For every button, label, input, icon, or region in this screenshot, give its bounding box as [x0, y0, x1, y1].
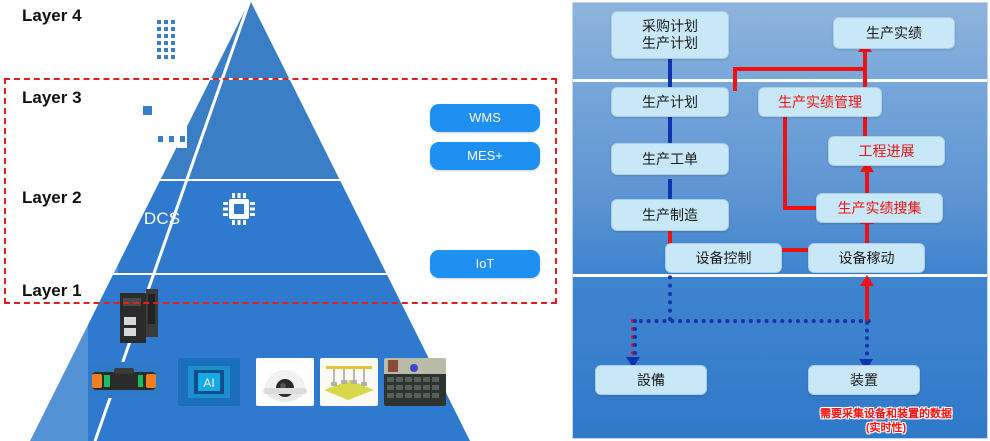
node-line-1: 采购计划 [642, 18, 698, 35]
node-production-result-collection[interactable]: 生产实绩搜集 [816, 193, 943, 223]
connector-to-device-dotted [865, 321, 869, 363]
layer4-subtitle: ERP / SCM [22, 26, 110, 47]
node-production-result[interactable]: 生产实绩 [833, 17, 955, 49]
connector-bottom-blue-dotted-h [631, 319, 871, 323]
agv-robot-photo [88, 362, 160, 398]
layer1-chinese: 设备层 [22, 322, 88, 343]
note-line-1: 需要采集设备和装置的数据 [791, 407, 981, 421]
red-dashed-scope-box [4, 78, 557, 304]
connector-device-to-equiprun [865, 283, 869, 321]
flow-band-divider [573, 79, 987, 82]
layer4-title: Layer 4 [22, 6, 110, 26]
node-equipment-operation[interactable]: 设备稼动 [808, 243, 925, 273]
ai-chip-photo: AI [178, 358, 240, 406]
node-production-plan[interactable]: 生产计划 [611, 87, 729, 117]
arrow-up-into-equiprun [860, 275, 874, 286]
connector-plan-to-prodplan [668, 57, 672, 89]
flow-diagram-panel: 采购计划 生产计划 生产计划 生产工单 生产制造 设备控制 设备稼动 生产实绩 … [572, 2, 988, 439]
pyramid-layer4-text: Layer 4 ERP / SCM 管理层 [22, 6, 110, 68]
node-purchase-production-plan[interactable]: 采购计划 生产计划 [611, 11, 729, 59]
office-building-icon [148, 14, 184, 70]
realtime-data-note: 需要采集设备和装置的数据 (实时性) [791, 407, 981, 435]
dome-camera-photo [256, 358, 314, 406]
node-line-2: 生产计划 [642, 35, 698, 52]
node-production-manufacturing[interactable]: 生产制造 [611, 199, 729, 231]
layer1-subtitle: Machine [22, 301, 88, 322]
svg-text:AI: AI [203, 376, 214, 390]
connector-equipctrl-down-dotted [668, 267, 672, 321]
node-device[interactable]: 装置 [808, 365, 920, 395]
equipment-panel-photo [384, 358, 446, 406]
pyramid-panel: Layer 4 ERP / SCM 管理层 Layer 3 MES / MOM … [0, 0, 570, 441]
connector-mgmt-to-result-h [733, 67, 867, 71]
node-equipment[interactable]: 設備 [595, 365, 707, 395]
layer4-chinese: 管理层 [22, 47, 110, 68]
node-work-order[interactable]: 生产工单 [611, 143, 729, 175]
note-line-2: (实时性) [791, 421, 981, 435]
connector-collect-to-mgmt-v [783, 115, 787, 208]
node-engineering-progress[interactable]: 工程进展 [828, 136, 945, 166]
conveyor-diagram-photo [320, 358, 378, 406]
node-equipment-control[interactable]: 设备控制 [665, 243, 782, 273]
node-production-result-management[interactable]: 生产实绩管理 [758, 87, 882, 117]
flow-band-divider [573, 274, 987, 277]
